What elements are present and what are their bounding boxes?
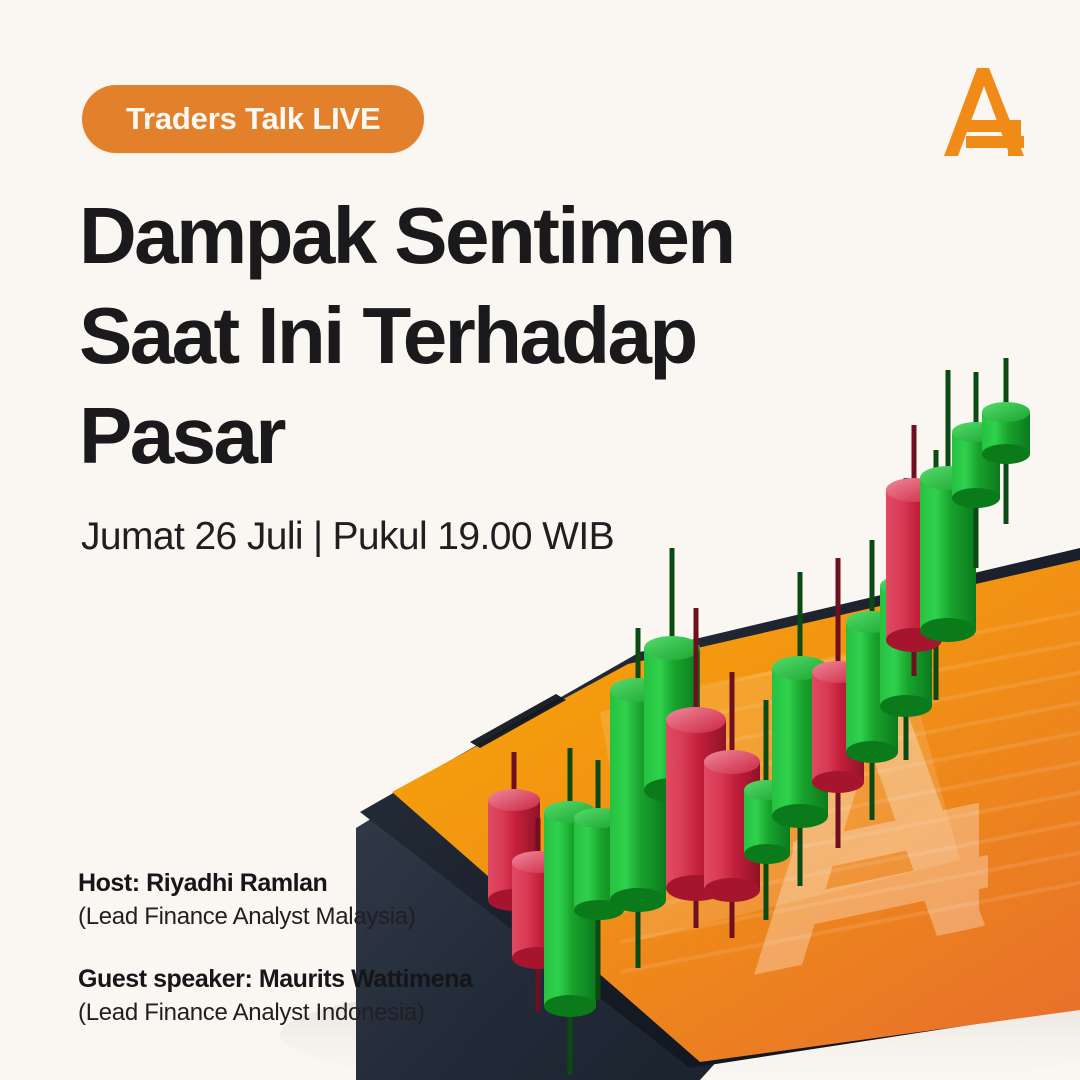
credit-host-role: (Lead Finance Analyst Malaysia) [78, 900, 473, 934]
credit-guest-role: (Lead Finance Analyst Indonesia) [78, 996, 473, 1030]
page-title-line-3: Pasar [79, 386, 839, 486]
candle-bullish [982, 402, 1030, 464]
candle-bearish [886, 478, 942, 652]
candle-bullish [544, 801, 596, 1017]
schedule-separator: | [303, 515, 333, 558]
candle-bullish [644, 636, 700, 802]
candle-bearish [812, 661, 864, 793]
event-date: Jumat 26 Juli [81, 515, 303, 558]
live-badge-label: Traders Talk LIVE [126, 101, 380, 137]
candle-bullish [846, 611, 898, 763]
page-title-line-2: Saat Ini Terhadap [79, 286, 839, 386]
candle-bearish [488, 789, 540, 911]
candle-bullish [574, 808, 624, 920]
live-badge[interactable]: Traders Talk LIVE [82, 85, 424, 153]
page-title: Dampak Sentimen Saat Ini Terhadap Pasar [79, 186, 839, 486]
candle-bullish [772, 656, 828, 828]
event-time: Pukul 19.00 WIB [333, 515, 614, 558]
candle-bearish [512, 851, 564, 969]
speaker-credits: Host: Riyadhi Ramlan (Lead Finance Analy… [78, 866, 473, 1030]
page-title-line-1: Dampak Sentimen [79, 186, 839, 286]
candle-bullish [610, 678, 666, 912]
promo-poster: Traders Talk LIVE Dampak Sentimen Saat I… [0, 0, 1080, 1080]
event-schedule: Jumat 26 Juli|Pukul 19.00 WIB [81, 515, 614, 559]
candle-bullish [744, 780, 790, 864]
credit-guest: Guest speaker: Maurits Wattimena (Lead F… [78, 962, 473, 1030]
candle-bearish [666, 707, 726, 901]
credit-host-name: Host: Riyadhi Ramlan [78, 866, 473, 900]
candle-bullish [920, 466, 976, 642]
brand-a-logo-icon [936, 62, 1032, 162]
candle-bullish [952, 422, 1000, 508]
candle-bullish [914, 522, 960, 618]
credit-host: Host: Riyadhi Ramlan (Lead Finance Analy… [78, 866, 473, 934]
candle-bearish [704, 750, 760, 902]
credit-guest-name: Guest speaker: Maurits Wattimena [78, 962, 473, 996]
candle-bullish [880, 575, 932, 717]
